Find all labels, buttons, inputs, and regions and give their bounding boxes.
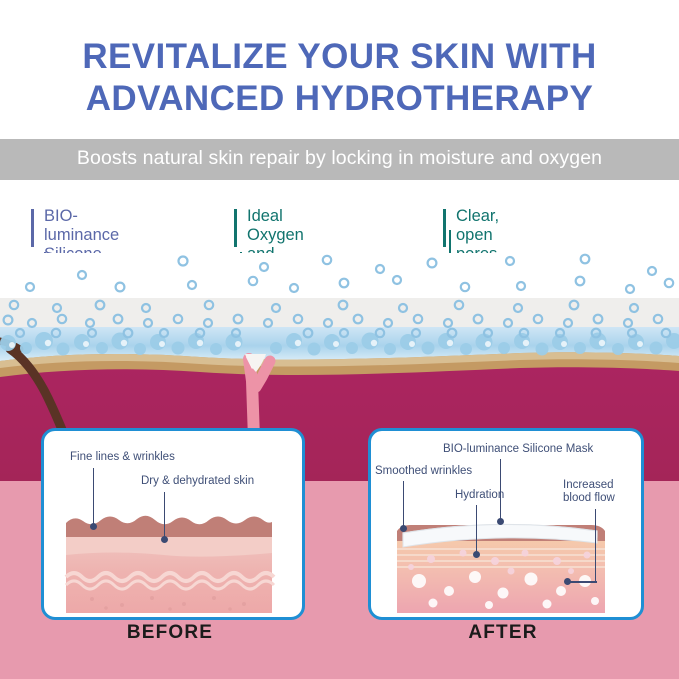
annotation-leader-elbow bbox=[569, 581, 597, 583]
caption-after: AFTER bbox=[368, 622, 638, 644]
annotation-leader-line bbox=[595, 509, 596, 582]
annotation-dot bbox=[473, 551, 480, 558]
caption-before: BEFORE bbox=[41, 622, 299, 644]
annotation-increased-blood-flow: Increased blood flow bbox=[563, 479, 615, 505]
after-panel[interactable]: BIO-luminance Silicone Mask Smoothed wri… bbox=[368, 428, 644, 620]
annotation-smoothed-wrinkles: Smoothed wrinkles bbox=[375, 465, 472, 478]
annotation-dot bbox=[497, 518, 504, 525]
annotation-leader-line bbox=[476, 505, 477, 554]
annotation-leader-line bbox=[164, 492, 165, 539]
annotation-leader-line bbox=[403, 481, 404, 528]
annotation-dot bbox=[161, 536, 168, 543]
before-panel[interactable]: Fine lines & wrinkles Dry & dehydrated s… bbox=[41, 428, 305, 620]
callout-accent-bar bbox=[31, 209, 34, 247]
annotation-dot bbox=[564, 578, 571, 585]
annotation-dot bbox=[90, 523, 97, 530]
callout-accent-bar bbox=[443, 209, 446, 247]
annotation-dot bbox=[400, 525, 407, 532]
subtitle-text: Boosts natural skin repair by locking in… bbox=[0, 147, 679, 170]
annotation-silicone-mask: BIO-luminance Silicone Mask bbox=[443, 443, 593, 456]
annotation-dry-dehydrated-skin: Dry & dehydrated skin bbox=[141, 475, 254, 488]
callout-accent-bar bbox=[234, 209, 237, 247]
annotation-fine-lines: Fine lines & wrinkles bbox=[70, 451, 175, 464]
annotation-hydration: Hydration bbox=[455, 489, 504, 502]
annotation-leader-line bbox=[93, 468, 94, 526]
page-title: REVITALIZE YOUR SKIN WITH ADVANCED HYDRO… bbox=[0, 36, 679, 120]
infographic-canvas: REVITALIZE YOUR SKIN WITH ADVANCED HYDRO… bbox=[0, 0, 679, 679]
